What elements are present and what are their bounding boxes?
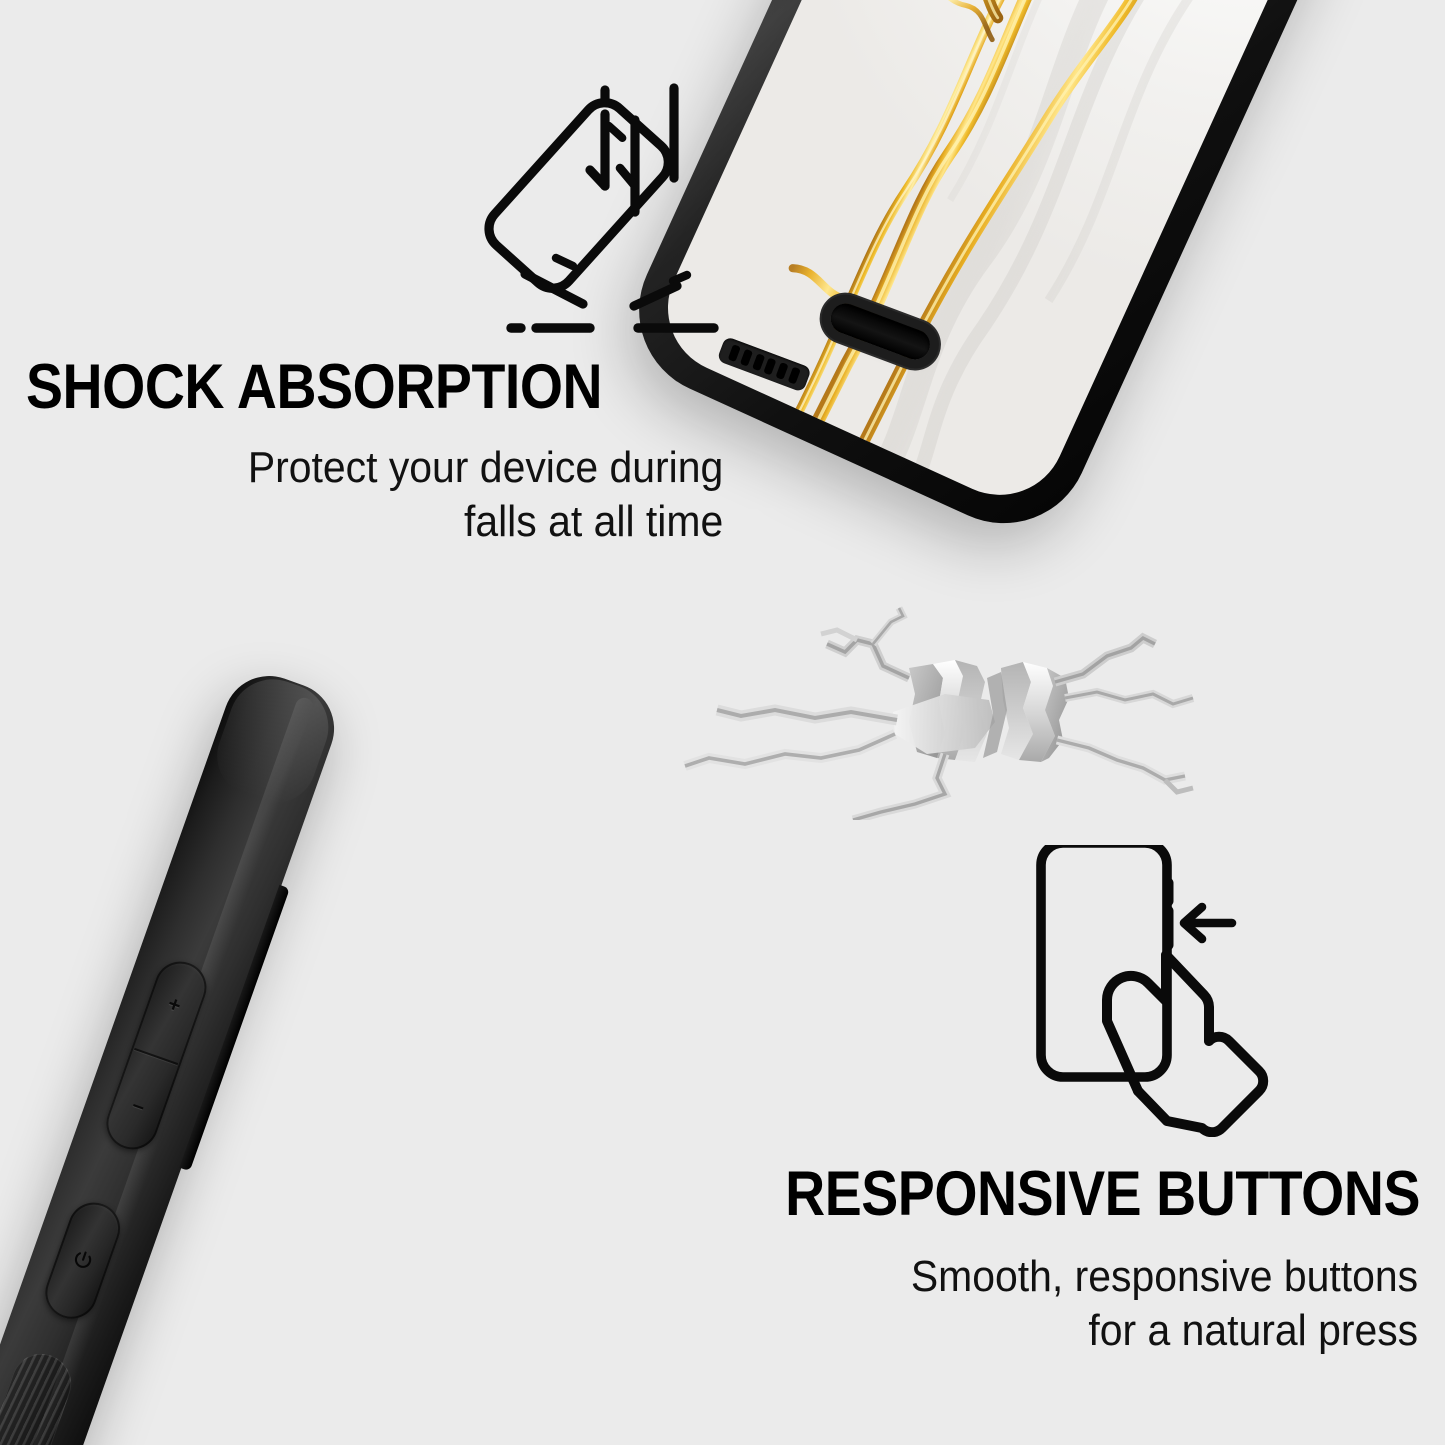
- cracked-ground-impact-graphic: [645, 582, 1201, 820]
- responsive-buttons-text-block: RESPONSIVE BUTTONS Smooth, responsive bu…: [648, 1163, 1420, 1357]
- volume-down-glyph: –: [111, 1087, 167, 1124]
- gold-marble-veining: [647, 0, 1426, 516]
- hand-press-phone-button-icon: [1026, 845, 1296, 1137]
- volume-up-glyph: +: [146, 986, 202, 1023]
- shock-absorption-headline: SHOCK ABSORPTION: [26, 356, 642, 419]
- shock-absorption-subtext: Protect your device during falls at all …: [75, 441, 726, 548]
- responsive-buttons-headline: RESPONSIVE BUTTONS: [741, 1163, 1420, 1226]
- case-bumper-frame: [611, 0, 1445, 551]
- marble-back-plate: [647, 0, 1426, 516]
- shock-absorption-text-block: SHOCK ABSORPTION Protect your device dur…: [26, 356, 726, 548]
- rocker-divider: [134, 1048, 178, 1065]
- power-icon: [67, 1245, 98, 1276]
- marble-phone-case-photo: [727, 0, 1427, 570]
- responsive-buttons-subtext-line1: Smooth, responsive buttons: [702, 1250, 1418, 1304]
- phone-drop-impact-icon: [468, 76, 734, 342]
- responsive-buttons-subtext: Smooth, responsive buttons for a natural…: [702, 1250, 1420, 1357]
- responsive-buttons-subtext-line2: for a natural press: [702, 1304, 1418, 1358]
- shock-absorption-subtext-line2: falls at all time: [75, 495, 723, 549]
- shock-absorption-subtext-line1: Protect your device during: [75, 441, 723, 495]
- side-profile-case-photo: + –: [0, 672, 610, 1445]
- feature-panel-canvas: + –: [0, 0, 1445, 1445]
